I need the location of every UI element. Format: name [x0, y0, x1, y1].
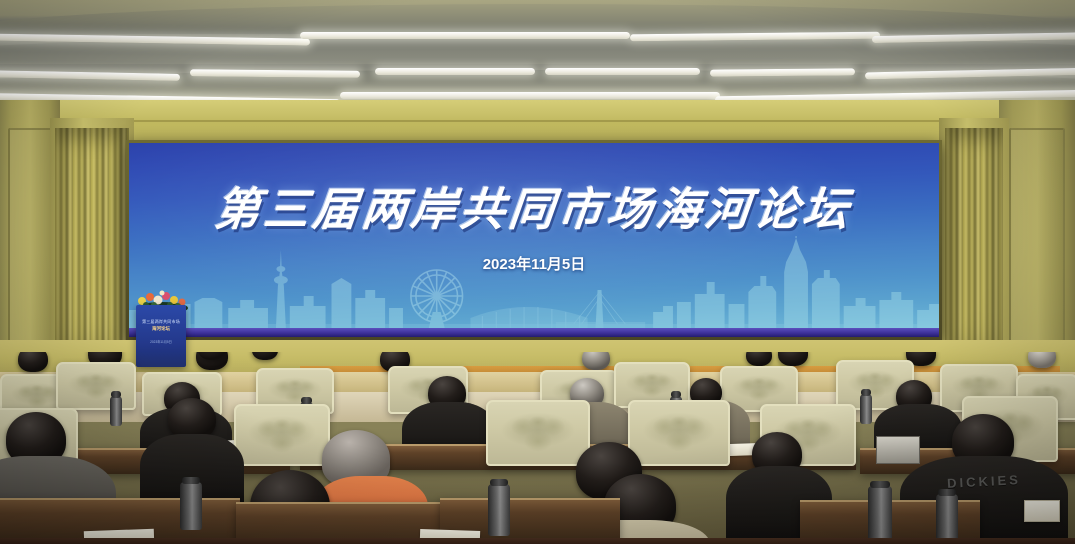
podium-title-line2: 海河论坛 — [136, 326, 186, 332]
foreground-shadow-table — [0, 538, 1075, 544]
thermos-flask — [180, 482, 202, 530]
thermos-flask — [936, 494, 958, 544]
thermos-flask — [868, 486, 892, 542]
wall-cornice — [0, 100, 1075, 122]
thermos-flask — [488, 484, 510, 536]
audience-chair — [628, 400, 730, 466]
screen-bottom-bar — [129, 328, 939, 337]
forum-date: 2023年11月5日 — [129, 253, 939, 274]
name-card — [1024, 500, 1060, 522]
ceiling-light-strip — [710, 68, 855, 76]
teacup — [134, 469, 159, 499]
audience-head — [1028, 352, 1056, 368]
audience-head — [18, 352, 48, 372]
panel-inset — [8, 128, 52, 368]
ceiling-light-strip — [340, 92, 720, 99]
audience-chair — [486, 400, 590, 466]
thermos-flask — [860, 394, 872, 424]
teacup — [829, 458, 852, 486]
ceiling-light-strip — [545, 68, 700, 75]
led-screen-frame: 第三届两岸共同市场海河论坛 2023年11月5日 — [126, 140, 942, 340]
ceiling — [0, 0, 1075, 108]
led-screen[interactable]: 第三届两岸共同市场海河论坛 2023年11月5日 — [129, 143, 939, 337]
podium-date: 2023年11月5日 — [136, 339, 186, 344]
panel-inset — [1009, 128, 1065, 368]
city-skyline-graphic — [129, 236, 939, 328]
laptop[interactable] — [876, 436, 920, 464]
ceiling-band-1 — [0, 4, 1075, 34]
conference-hall-screenshot: 第三届两岸共同市场海河论坛 2023年11月5日 第三届两岸共同市场 海河论坛 … — [0, 0, 1075, 544]
audience-chair — [56, 362, 136, 410]
forum-title: 第三届两岸共同市场海河论坛 — [129, 173, 939, 238]
ceiling-light-strip — [190, 69, 360, 77]
podium-title-line1: 第三届两岸共同市场 — [136, 319, 186, 325]
dickies-jacket-text: DICKIES — [900, 470, 1069, 494]
ceiling-light-strip — [375, 68, 535, 75]
ceiling-light-strip — [300, 32, 630, 39]
audience-chair — [234, 404, 330, 466]
thermos-flask — [110, 396, 122, 426]
teacup — [450, 470, 474, 499]
teacup — [255, 476, 281, 507]
audience-area: DICKIES — [0, 352, 1075, 544]
audience-head — [582, 352, 610, 370]
